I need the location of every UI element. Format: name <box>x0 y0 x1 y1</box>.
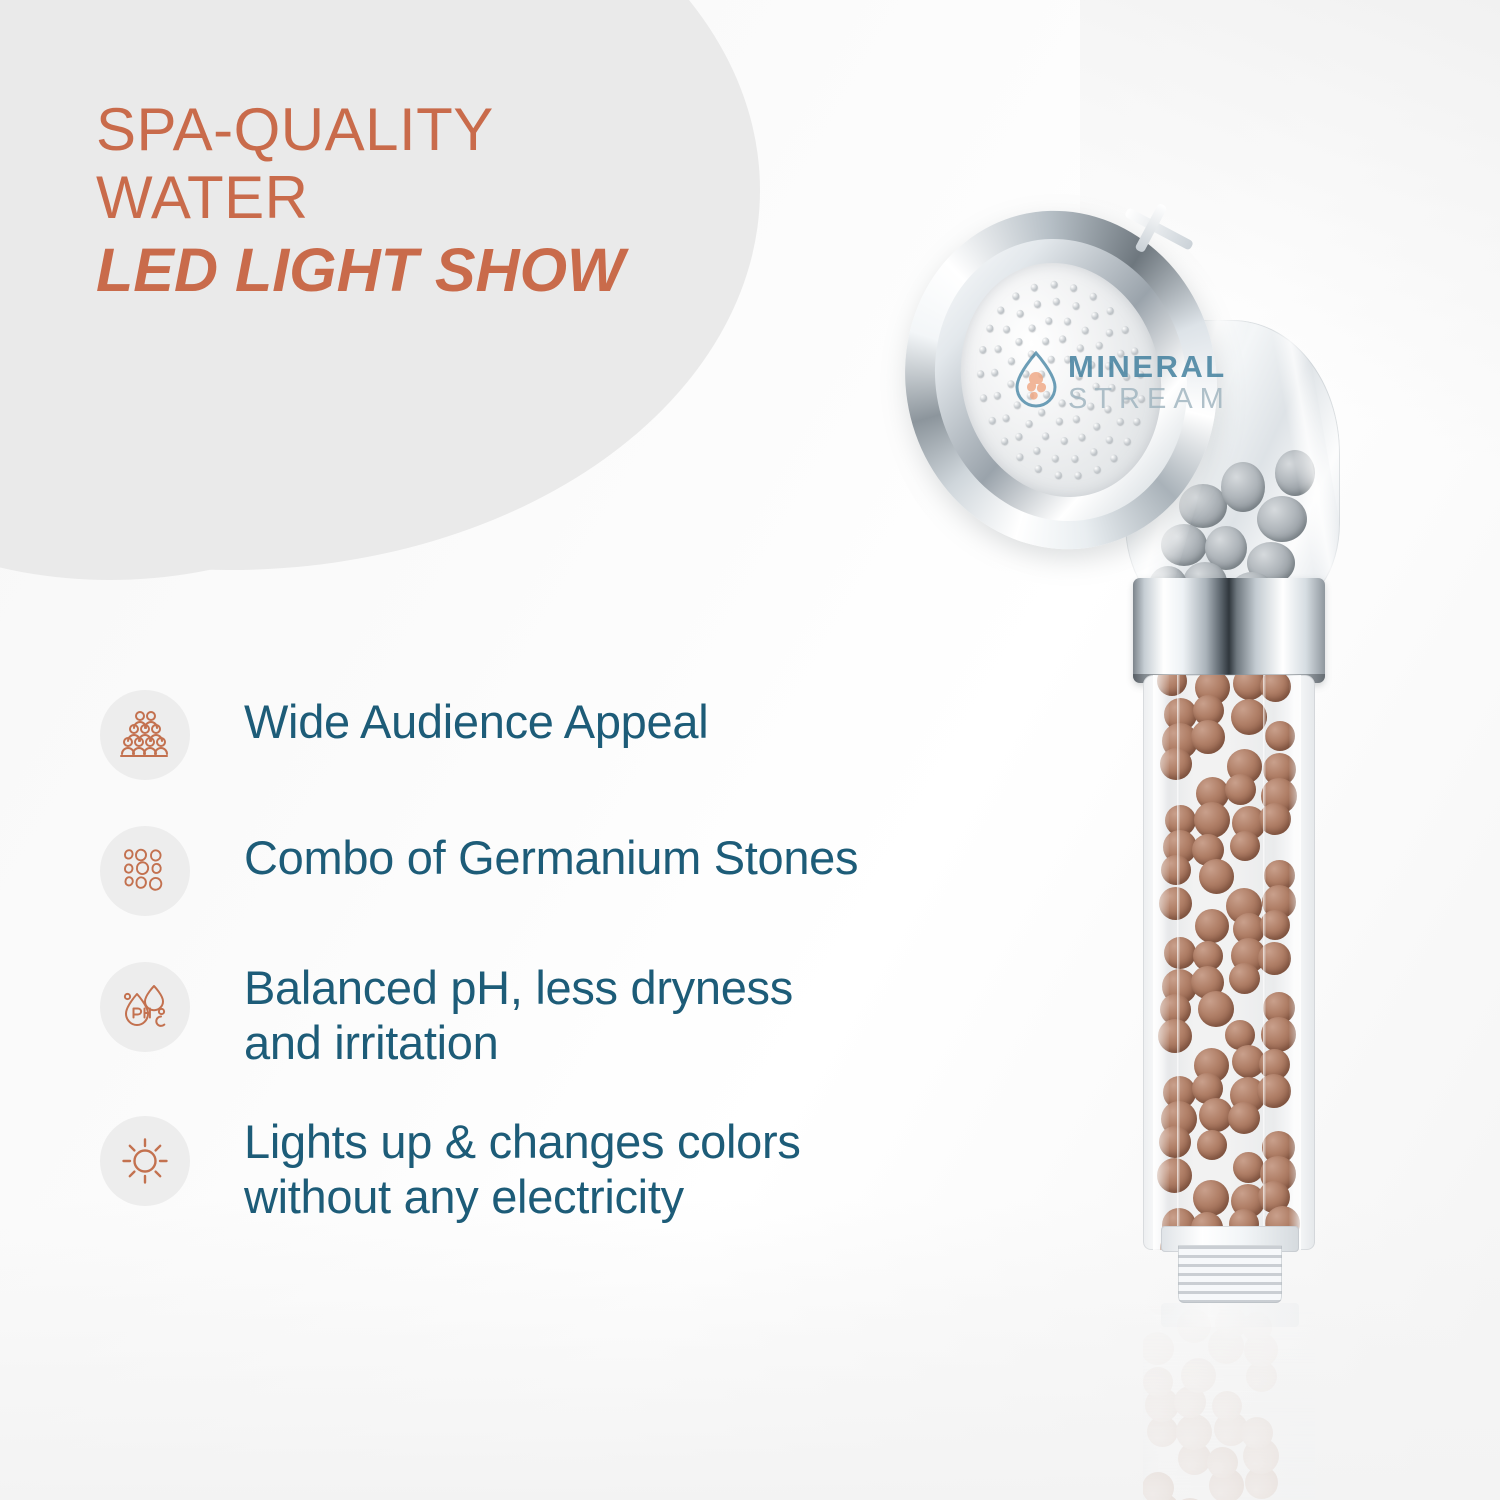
germanium-bead <box>1195 909 1229 943</box>
nozzle-dimple <box>1117 349 1125 357</box>
germanium-bead <box>1181 1358 1216 1393</box>
nozzle-dimple <box>1074 471 1082 479</box>
nozzle-dimple <box>1086 402 1094 410</box>
nozzle-dimple <box>997 306 1005 314</box>
sun-light-rays-icon <box>100 1116 190 1206</box>
product-reflection <box>1143 1303 1315 1500</box>
nozzle-dimple <box>1016 453 1024 461</box>
germanium-bead <box>1231 699 1267 735</box>
germanium-bead <box>1143 1472 1174 1500</box>
nozzle-dimple <box>980 393 988 401</box>
nozzle-dimple <box>1095 341 1103 349</box>
nozzle-dimple <box>1116 417 1124 425</box>
feature-label: Balanced pH, less dryness and irritation <box>244 960 793 1070</box>
germanium-bead <box>1225 774 1256 805</box>
feature-label: Wide Audience Appeal <box>244 688 708 749</box>
nozzle-dimple <box>1123 437 1131 445</box>
nozzle-dimple <box>1106 306 1114 314</box>
nozzle-dimple <box>987 416 995 424</box>
nozzle-dimple <box>1032 446 1040 454</box>
nozzle-dimple <box>1007 357 1015 365</box>
nozzle-dimple <box>1007 379 1015 387</box>
nozzle-dimple <box>1090 448 1098 456</box>
germanium-bead <box>1240 1303 1273 1310</box>
nozzle-dimple <box>1105 435 1113 443</box>
nozzle-dimple <box>1063 317 1071 325</box>
nozzle-dimple <box>1033 300 1041 308</box>
nozzle-dimple <box>1002 325 1010 333</box>
shower-handle-filter-tube <box>1143 675 1315 1250</box>
germanium-bead <box>1197 1130 1227 1160</box>
nozzle-dimple <box>1122 372 1130 380</box>
nozzle-dimple <box>1107 384 1115 392</box>
nozzle-dimple <box>1093 465 1101 473</box>
nozzle-dimple <box>1025 419 1033 427</box>
germanium-bead <box>1176 1414 1212 1450</box>
feature-label: Lights up & changes colors without any e… <box>244 1114 801 1224</box>
nozzle-dimple <box>1015 432 1023 440</box>
nozzle-dimple <box>1043 390 1051 398</box>
nozzle-dimple <box>1059 335 1067 343</box>
germanium-bead <box>1194 802 1230 838</box>
germanium-bead <box>1146 1303 1178 1315</box>
shower-chrome-collar <box>1133 578 1325 683</box>
nozzle-dimple <box>1072 301 1080 309</box>
nozzle-dimple <box>1073 414 1081 422</box>
germanium-bead <box>1143 1367 1173 1397</box>
nozzle-dimple <box>1034 465 1042 473</box>
nozzle-dimple <box>1016 309 1024 317</box>
germanium-bead <box>1191 720 1225 754</box>
shower-head-chrome-ring <box>905 212 1216 548</box>
nozzle-dimple <box>1092 382 1100 390</box>
germanium-bead <box>1242 1312 1272 1342</box>
product-image-shower-head: MINERAL STREAM <box>890 190 1410 1390</box>
nozzle-dimple <box>1051 454 1059 462</box>
germanium-bead <box>1207 1447 1238 1478</box>
nozzle-dimple <box>1038 370 1046 378</box>
nozzle-dimple <box>1013 401 1021 409</box>
nozzle-dimple <box>1026 391 1034 399</box>
headline-block: SPA-QUALITY WATER LED LIGHT SHOW <box>96 96 796 304</box>
nozzle-dimple <box>1071 454 1079 462</box>
germanium-bead <box>1241 1417 1273 1449</box>
nozzle-dimple <box>1136 370 1144 378</box>
nozzle-dimple <box>1054 471 1062 479</box>
nozzle-dimple <box>1055 417 1063 425</box>
nozzle-dimple <box>1090 312 1098 320</box>
nozzle-dimple <box>1132 417 1140 425</box>
nozzle-dimple <box>1075 371 1083 379</box>
nozzle-dimple <box>1041 337 1049 345</box>
tube-highlight-left <box>1153 675 1169 1250</box>
germanium-bead <box>1229 963 1260 994</box>
germanium-bead <box>1193 1180 1229 1216</box>
nozzle-dimple <box>1110 453 1118 461</box>
nozzle-dimple <box>1000 436 1008 444</box>
feature-label: Combo of Germanium Stones <box>244 824 858 885</box>
infographic-page: SPA-QUALITY WATER LED LIGHT SHOW <box>0 0 1500 1500</box>
nozzle-dimple <box>1038 408 1046 416</box>
germanium-stones-icon <box>100 826 190 916</box>
nozzle-dimple <box>990 368 998 376</box>
nozzle-dimple <box>1105 361 1113 369</box>
nozzle-dimple <box>1030 283 1038 291</box>
nozzle-dimple <box>1106 328 1114 336</box>
nozzle-dimple <box>1073 390 1081 398</box>
nozzle-dimple <box>1047 355 1055 363</box>
nozzle-dimple <box>1093 422 1101 430</box>
headline-line-2: WATER <box>96 164 796 232</box>
headline-line-1: SPA-QUALITY <box>96 96 796 164</box>
nozzle-dimple <box>1012 292 1020 300</box>
shower-head-nozzle-face <box>936 242 1185 519</box>
nozzle-dimple <box>1120 325 1128 333</box>
nozzle-dimple <box>1081 326 1089 334</box>
germanium-bead <box>1199 859 1234 894</box>
tube-highlight-right <box>1289 675 1301 1250</box>
nozzle-dimple <box>977 369 985 377</box>
nozzle-dimple <box>1015 338 1023 346</box>
shower-thread-connector <box>1178 1245 1282 1303</box>
nozzle-dimple <box>993 391 1001 399</box>
nozzle-dimple <box>1022 370 1030 378</box>
nozzle-dimple <box>1089 292 1097 300</box>
nozzle-dimple <box>1060 436 1068 444</box>
headline-line-3: LED LIGHT SHOW <box>96 236 796 304</box>
nozzle-dimple <box>1052 297 1060 305</box>
germanium-bead <box>1233 1152 1264 1183</box>
nozzle-dimple <box>1064 355 1072 363</box>
nozzle-dimple <box>1028 323 1036 331</box>
nozzle-dimple <box>1122 395 1130 403</box>
germanium-bead-field <box>1161 675 1297 1250</box>
nozzle-dimple <box>1076 343 1084 351</box>
nozzle-dimple <box>1041 431 1049 439</box>
germanium-bead <box>1198 991 1234 1027</box>
nozzle-dimple <box>994 345 1002 353</box>
nozzle-dimple <box>1058 399 1066 407</box>
nozzle-dimple <box>1070 283 1078 291</box>
germanium-bead <box>1230 831 1260 861</box>
germanium-bead <box>1177 1309 1211 1343</box>
nozzle-dimple <box>1103 405 1111 413</box>
nozzle-dimple <box>1088 361 1096 369</box>
nozzle-dimple <box>1045 316 1053 324</box>
audience-crowd-icon <box>100 690 190 780</box>
nozzle-dimple <box>1131 347 1139 355</box>
germanium-bead <box>1228 1102 1260 1134</box>
ph-water-drop-icon <box>100 962 190 1052</box>
nozzle-dimple <box>1078 433 1086 441</box>
germanium-bead <box>1212 1391 1242 1421</box>
nozzle-dimple <box>979 346 987 354</box>
germanium-bead <box>1143 1332 1174 1365</box>
nozzle-dimple <box>1028 350 1036 358</box>
nozzle-dimple <box>1002 413 1010 421</box>
nozzle-dimple <box>1050 280 1058 288</box>
nozzle-dimple <box>985 324 993 332</box>
nozzle-dimple <box>1137 394 1145 402</box>
